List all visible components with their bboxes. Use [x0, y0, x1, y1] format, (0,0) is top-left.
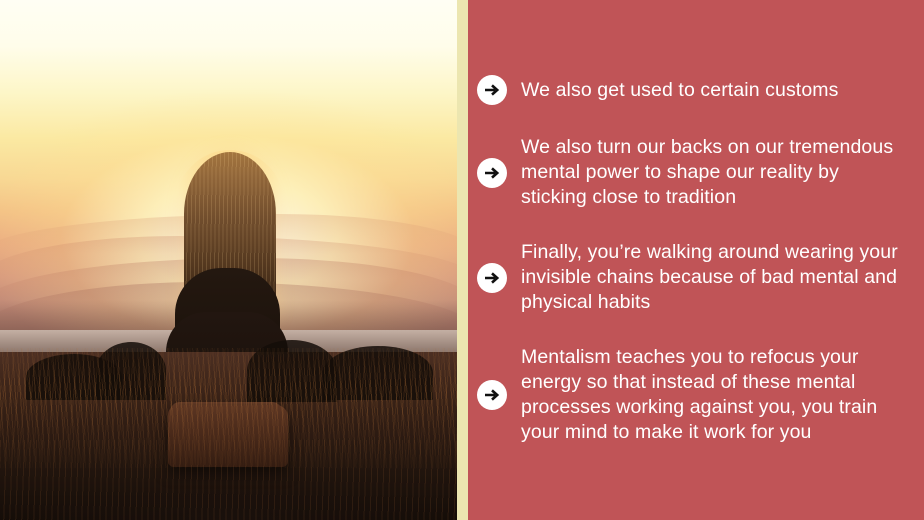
- bullet-text: Finally, you’re walking around wearing y…: [521, 240, 910, 315]
- list-item: We also turn our backs on our tremendous…: [468, 135, 910, 210]
- sunset-silhouette-photo: [0, 0, 457, 520]
- arrow-right-circle-icon: [477, 75, 507, 105]
- arrow-right-circle-icon: [477, 158, 507, 188]
- vertical-divider: [457, 0, 468, 520]
- bullet-text: We also turn our backs on our tremendous…: [521, 135, 910, 210]
- bullet-panel: We also get used to certain customs We a…: [468, 0, 924, 520]
- list-item: Finally, you’re walking around wearing y…: [468, 240, 910, 315]
- bullet-text: Mentalism teaches you to refocus your en…: [521, 345, 910, 445]
- arrow-right-circle-icon: [477, 380, 507, 410]
- list-item: Mentalism teaches you to refocus your en…: [468, 345, 910, 445]
- slide: We also get used to certain customs We a…: [0, 0, 924, 520]
- bullet-text: We also get used to certain customs: [521, 78, 838, 103]
- list-item: We also get used to certain customs: [468, 75, 910, 105]
- bullet-list: We also get used to certain customs We a…: [468, 0, 924, 520]
- grass-texture-foreground: [0, 440, 457, 520]
- arrow-right-circle-icon: [477, 263, 507, 293]
